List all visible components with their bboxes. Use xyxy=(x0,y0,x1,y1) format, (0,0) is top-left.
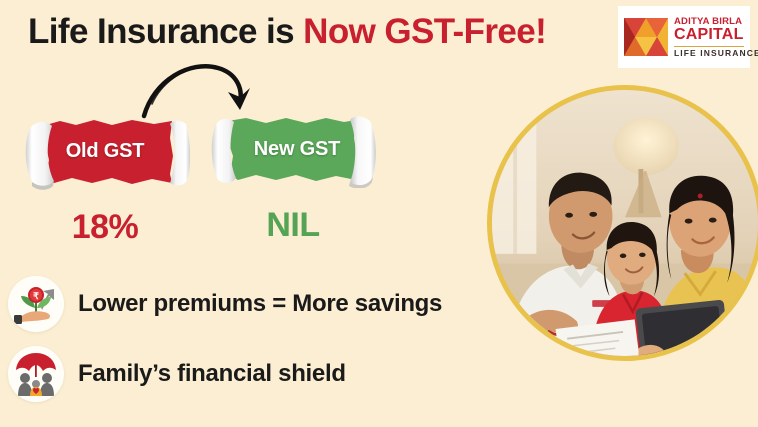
logo-wordmark: ADITYA BIRLA CAPITAL LIFE INSURANCE xyxy=(674,17,744,57)
promo-poster: Life Insurance is Now GST-Free! ADITYA B… xyxy=(0,0,758,427)
benefit-item: ₹ Lower premiums = More savings xyxy=(8,276,442,332)
svg-text:₹: ₹ xyxy=(33,291,39,301)
aditya-birla-sunburst-icon xyxy=(624,18,668,56)
family-with-tablet-photo xyxy=(487,85,758,361)
old-gst-torn-paper xyxy=(20,112,190,190)
logo-divider xyxy=(674,46,744,47)
brand-logo: ADITYA BIRLA CAPITAL LIFE INSURANCE xyxy=(618,6,750,68)
benefit-label: Family’s financial shield xyxy=(78,360,346,388)
headline-plain-text: Life Insurance is xyxy=(28,12,303,51)
benefit-item: Family’s financial shield xyxy=(8,346,346,402)
new-gst-rate: NIL xyxy=(208,206,378,245)
headline-accent-text: Now GST-Free! xyxy=(303,12,546,51)
page-title: Life Insurance is Now GST-Free! xyxy=(28,12,546,52)
old-gst-rate: 18% xyxy=(20,208,190,247)
family-umbrella-shield-icon xyxy=(8,346,64,402)
logo-line-life-insurance: LIFE INSURANCE xyxy=(674,49,744,58)
new-gst-banner: New GST xyxy=(208,110,378,188)
old-gst-banner: Old GST xyxy=(20,112,190,190)
logo-line-capital: CAPITAL xyxy=(674,27,744,43)
savings-growth-icon: ₹ xyxy=(8,276,64,332)
new-gst-torn-paper xyxy=(208,110,378,188)
benefit-label: Lower premiums = More savings xyxy=(78,290,442,318)
family-photo-illustration xyxy=(492,90,758,356)
